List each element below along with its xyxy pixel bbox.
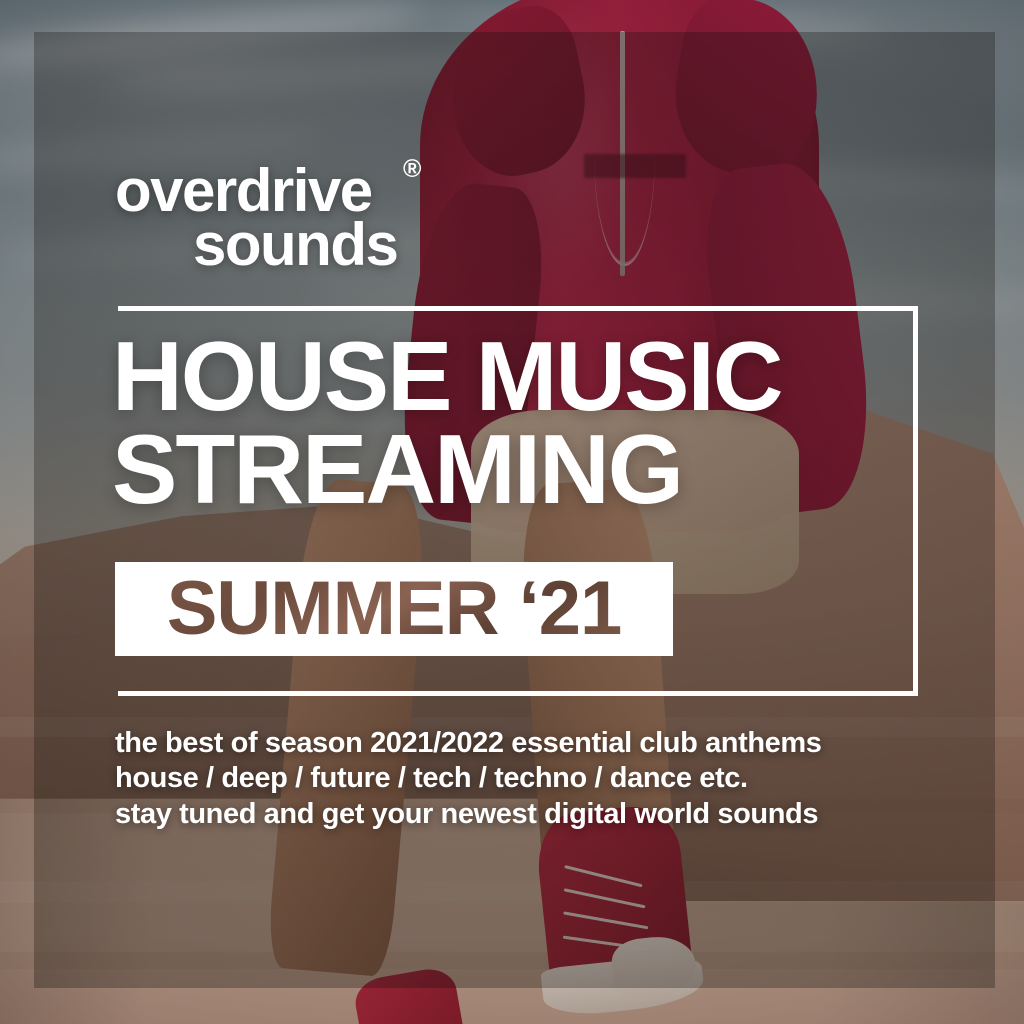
title-line-1: HOUSE MUSIC (112, 330, 922, 423)
album-cover: overdrive sounds ® HOUSE MUSIC STREAMING… (0, 0, 1024, 1024)
tagline-block: the best of season 2021/2022 essential c… (115, 726, 905, 832)
page-title: HOUSE MUSIC STREAMING (112, 330, 922, 516)
overdrive-sounds-logo: overdrive sounds ® (115, 165, 445, 270)
title-line-2: STREAMING (112, 423, 922, 516)
tagline-line-3: stay tuned and get your newest digital w… (115, 797, 905, 832)
logo-word-overdrive: overdrive (115, 165, 445, 217)
season-badge-label: SUMMER ‘21 (163, 571, 626, 647)
logo-word-sounds: sounds (115, 219, 445, 271)
tagline-line-1: the best of season 2021/2022 essential c… (115, 726, 905, 761)
tagline-line-2: house / deep / future / tech / techno / … (115, 761, 905, 796)
frame-rule-bottom (118, 691, 918, 696)
cover-content: overdrive sounds ® HOUSE MUSIC STREAMING… (0, 0, 1024, 1024)
season-badge: SUMMER ‘21 (115, 562, 673, 656)
registered-trademark-icon: ® (403, 157, 421, 182)
frame-rule-top (118, 306, 918, 311)
